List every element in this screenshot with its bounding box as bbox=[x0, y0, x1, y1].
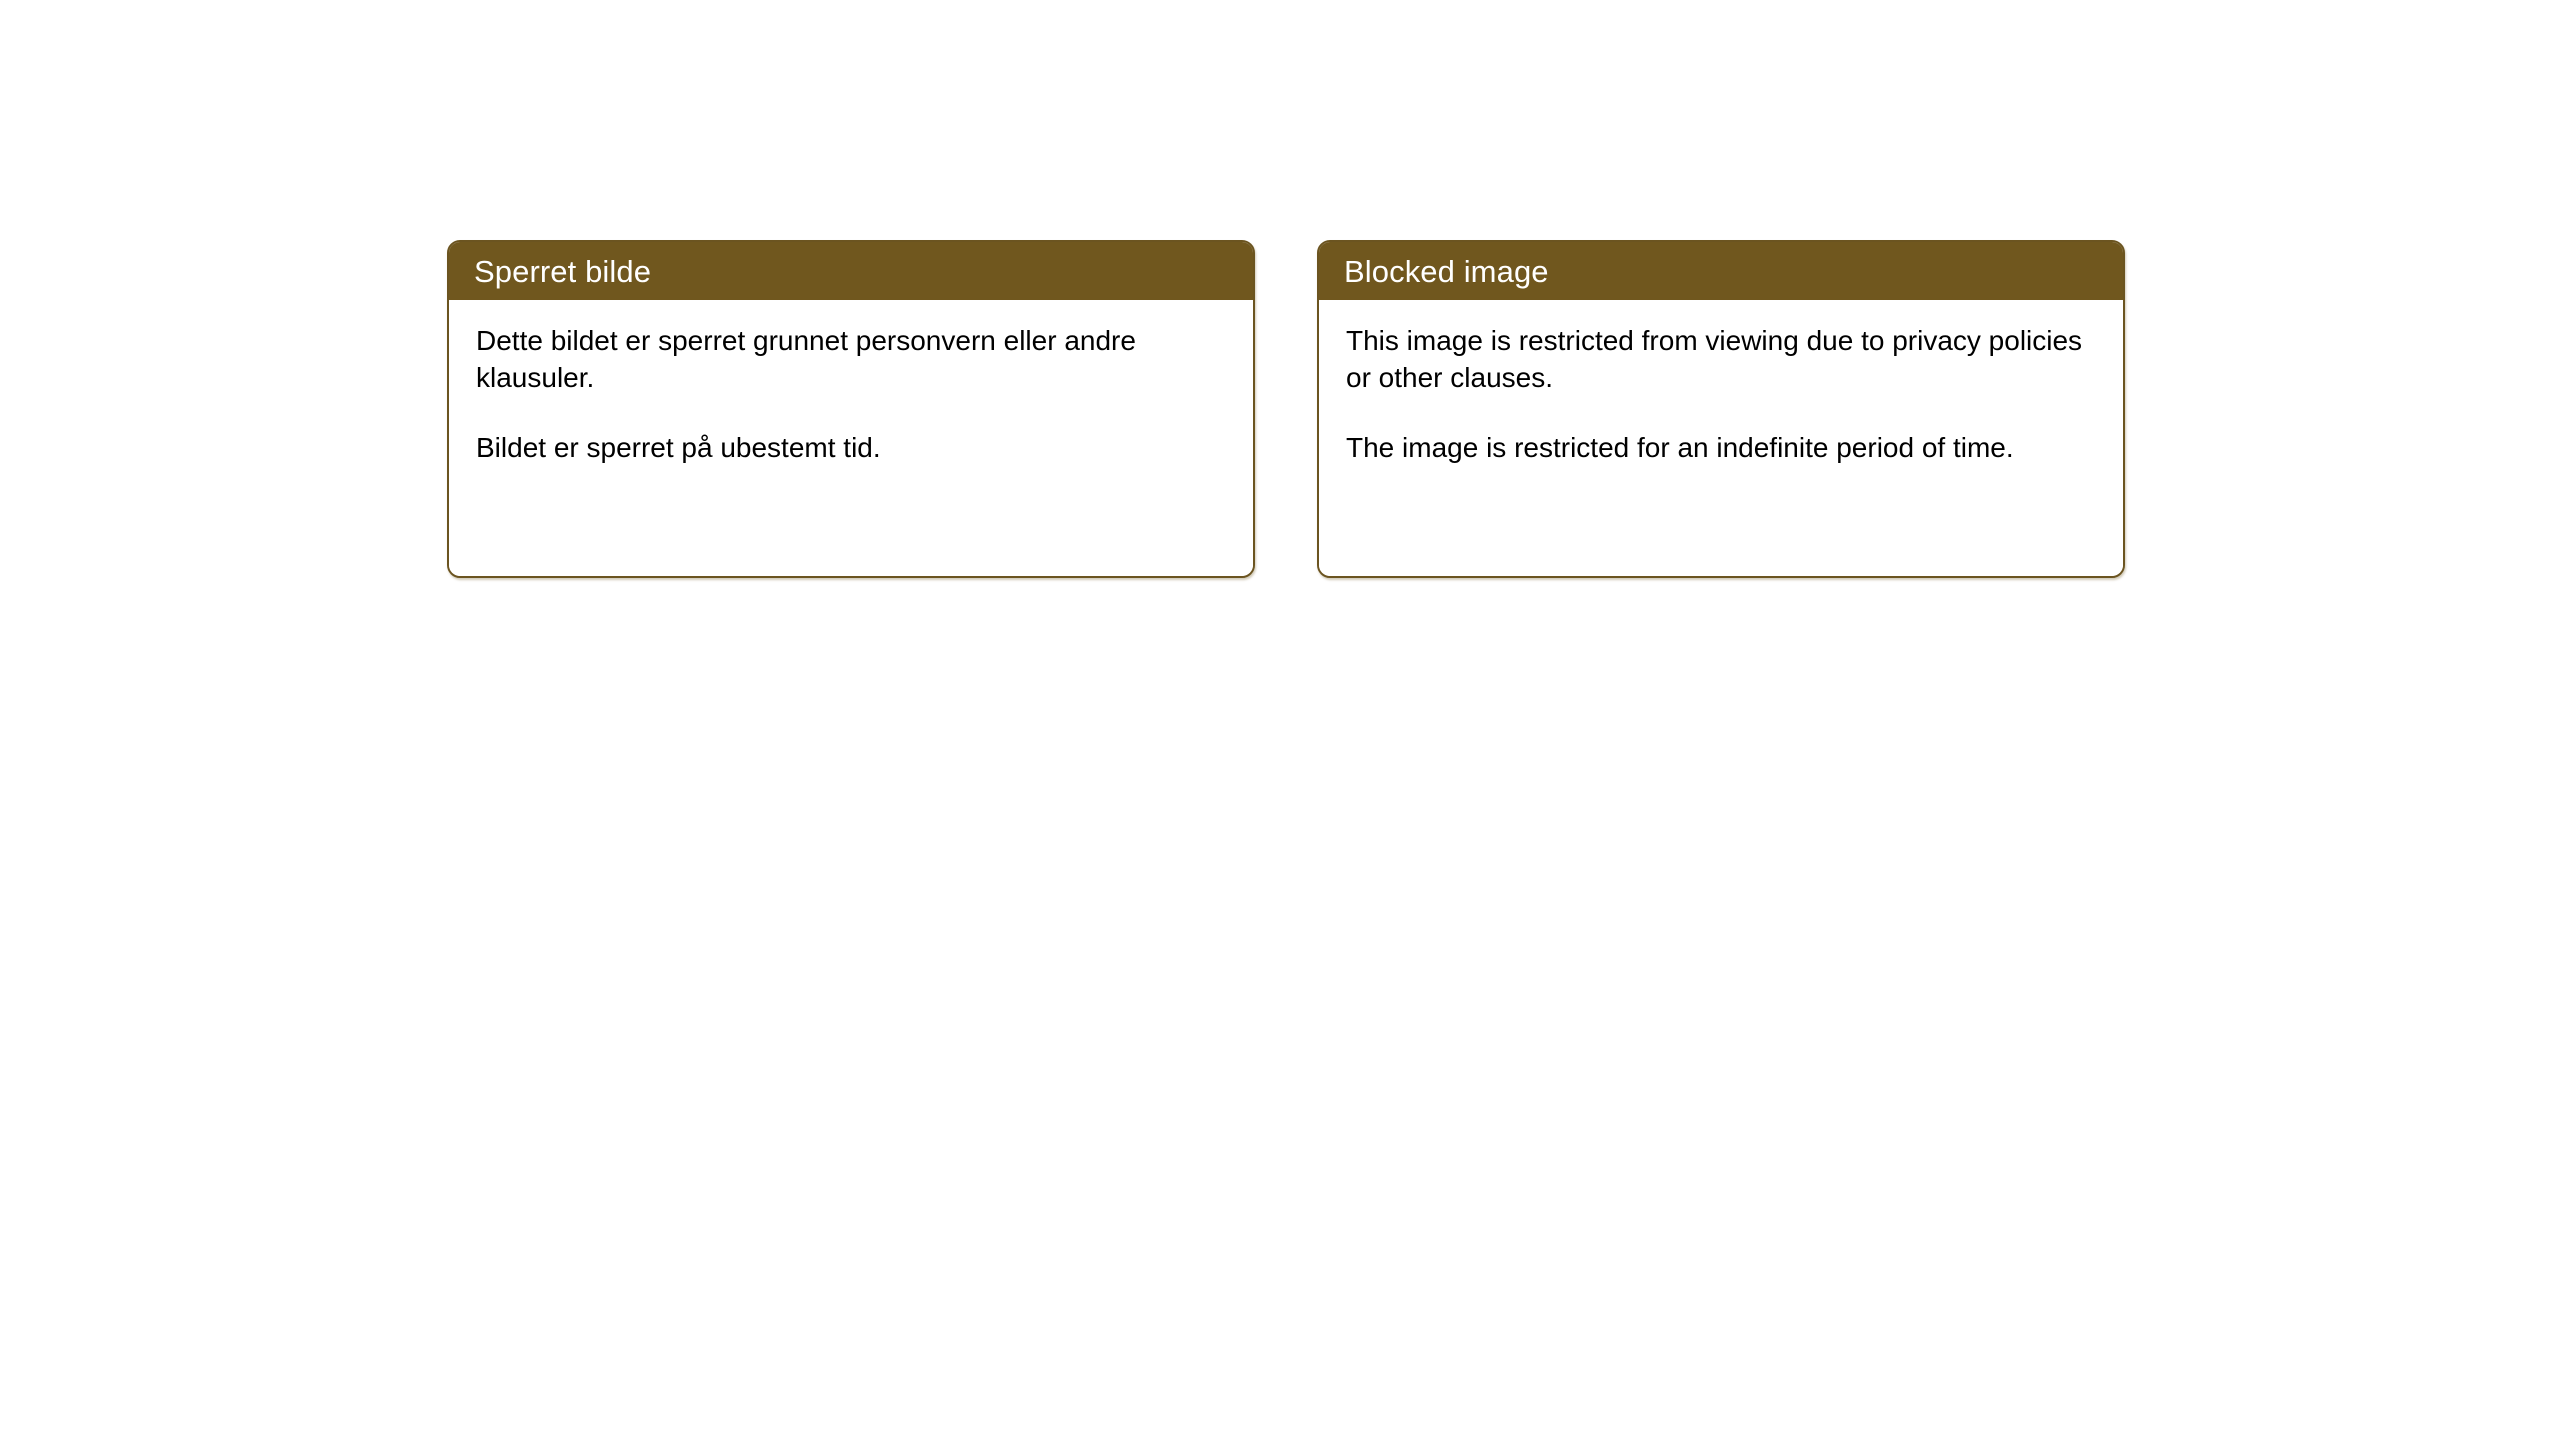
card-paragraph-duration-english: The image is restricted for an indefinit… bbox=[1346, 429, 2097, 466]
card-header-english: Blocked image bbox=[1319, 242, 2123, 300]
card-paragraph-duration-norwegian: Bildet er sperret på ubestemt tid. bbox=[476, 429, 1227, 466]
blocked-image-notice-area: Sperret bilde Dette bildet er sperret gr… bbox=[447, 240, 2125, 578]
card-header-norwegian: Sperret bilde bbox=[449, 242, 1253, 300]
card-title-norwegian: Sperret bilde bbox=[474, 256, 651, 287]
card-paragraph-privacy-norwegian: Dette bildet er sperret grunnet personve… bbox=[476, 322, 1227, 396]
card-title-english: Blocked image bbox=[1344, 256, 1549, 287]
blocked-image-card-english: Blocked image This image is restricted f… bbox=[1317, 240, 2125, 578]
card-body-english: This image is restricted from viewing du… bbox=[1319, 300, 2123, 576]
card-paragraph-privacy-english: This image is restricted from viewing du… bbox=[1346, 322, 2097, 396]
card-body-norwegian: Dette bildet er sperret grunnet personve… bbox=[449, 300, 1253, 576]
blocked-image-card-norwegian: Sperret bilde Dette bildet er sperret gr… bbox=[447, 240, 1255, 578]
